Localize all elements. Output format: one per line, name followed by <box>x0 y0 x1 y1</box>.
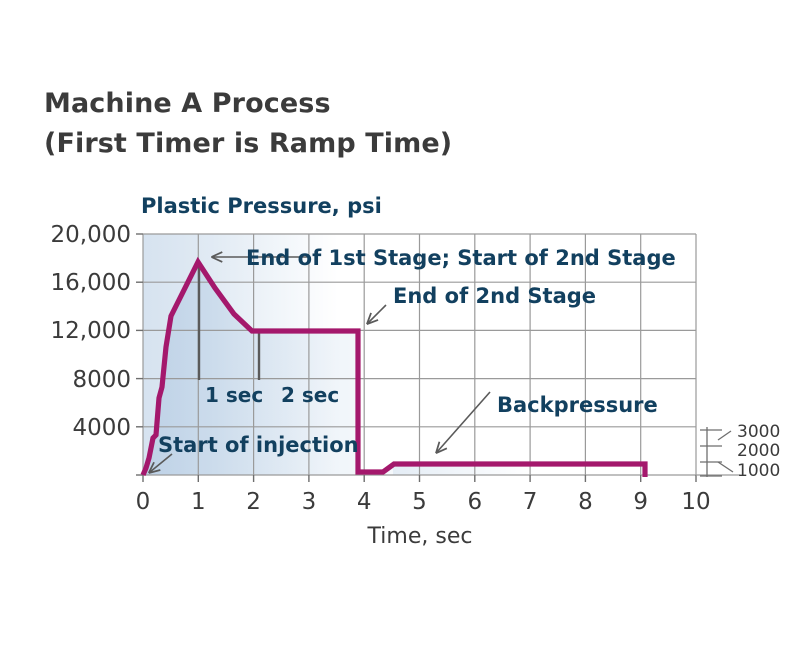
annotation-end-1st-stage-label: End of 1st Stage; Start of 2nd Stage <box>246 246 676 270</box>
annotation-end-2nd-stage-label: End of 2nd Stage <box>393 284 596 308</box>
x-tick-8: 8 <box>578 489 593 515</box>
x-tick-4: 4 <box>357 489 372 515</box>
annotation-end-1st-stage: End of 1st Stage; Start of 2nd Stage <box>213 246 676 270</box>
right-tick-3000: 3000 <box>737 422 780 442</box>
annotation-start-injection-label: Start of injection <box>158 433 359 457</box>
y-tick-4000: 4000 <box>72 415 131 441</box>
secondary-axis-labels: 3000 2000 1000 <box>737 422 780 481</box>
y-tick-16000: 16,000 <box>51 270 131 296</box>
x-axis-title: Time, sec <box>367 524 473 549</box>
secondary-axis <box>700 427 733 477</box>
y-axis-labels: 20,000 16,000 12,000 8000 4000 <box>51 222 131 441</box>
annotation-backpressure: Backpressure <box>437 392 658 452</box>
chart-page: Machine A Process (First Timer is Ramp T… <box>0 0 800 667</box>
x-tick-10: 10 <box>681 489 710 515</box>
x-tick-9: 9 <box>633 489 648 515</box>
x-tick-2: 2 <box>246 489 261 515</box>
annotation-backpressure-label: Backpressure <box>497 393 658 417</box>
x-tick-6: 6 <box>467 489 482 515</box>
x-tick-3: 3 <box>302 489 317 515</box>
x-tick-0: 0 <box>136 489 151 515</box>
pressure-time-chart: 20,000 16,000 12,000 8000 4000 0 1 2 3 4… <box>0 0 800 667</box>
x-axis-labels: 0 1 2 3 4 5 6 7 8 9 10 <box>136 489 711 515</box>
y-tick-12000: 12,000 <box>51 318 131 344</box>
timer-2-label: 2 sec <box>281 383 339 407</box>
right-tick-2000: 2000 <box>737 441 780 461</box>
series-title: Plastic Pressure, psi <box>141 194 382 218</box>
x-tick-1: 1 <box>191 489 206 515</box>
annotation-end-2nd-stage: End of 2nd Stage <box>368 284 596 323</box>
right-tick-1000: 1000 <box>737 461 780 481</box>
y-tick-8000: 8000 <box>72 367 131 393</box>
x-tick-7: 7 <box>523 489 538 515</box>
timer-1-label: 1 sec <box>205 383 263 407</box>
y-tick-20000: 20,000 <box>51 222 131 248</box>
x-tick-5: 5 <box>412 489 427 515</box>
